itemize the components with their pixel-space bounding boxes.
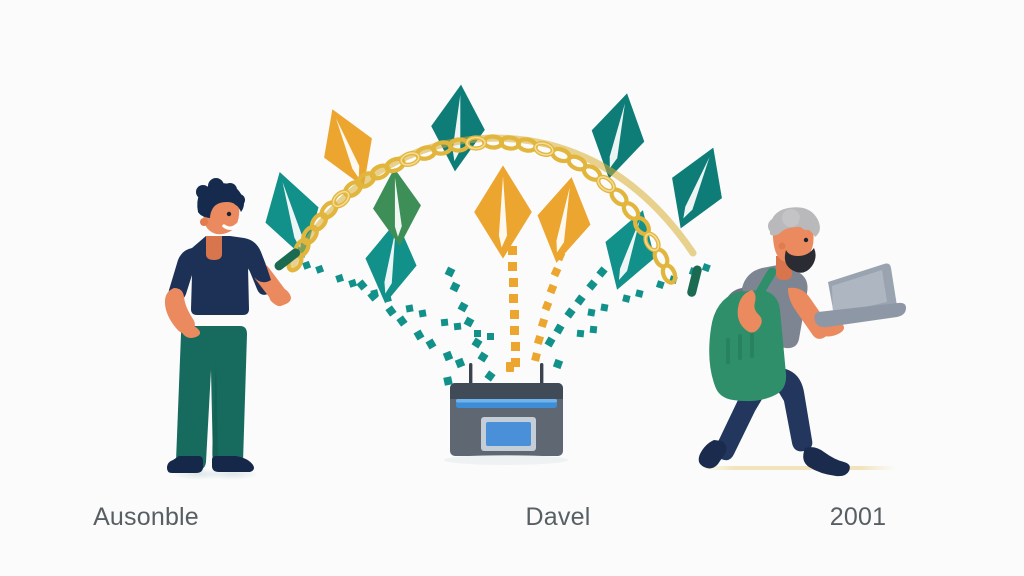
left-person-eye: [227, 212, 231, 216]
left-person-neck: [206, 236, 222, 260]
device-screen: [486, 422, 531, 446]
right-person-eye: [804, 238, 808, 242]
illustration-svg: [0, 0, 1024, 576]
device-shadow: [444, 455, 568, 465]
antenna-right: [540, 363, 543, 385]
device-stripe-highlight: [456, 399, 557, 403]
left-person-ear: [200, 218, 208, 226]
device-emitter-dot: [506, 362, 514, 372]
right-person-ear: [779, 243, 786, 250]
illustration-canvas: Ausonble Davel 2001: [0, 0, 1024, 576]
device-top-bar: [450, 383, 563, 399]
antenna-left: [469, 363, 472, 385]
right-person-ground-line: [700, 466, 896, 470]
